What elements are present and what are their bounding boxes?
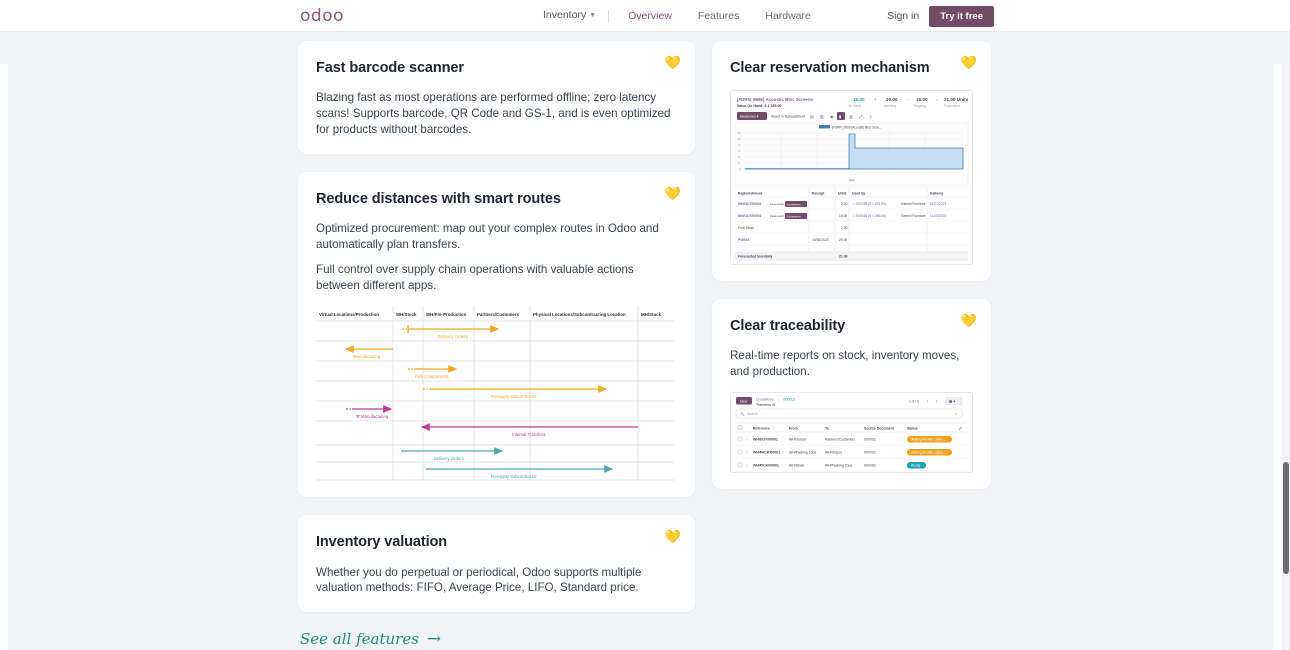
see-all-features-label: See all features [300, 630, 419, 648]
scrollbar-thumb[interactable] [1283, 462, 1289, 574]
svg-text:WH/Packing Zone: WH/Packing Zone [825, 464, 852, 468]
svg-text:WH/PICK/00001: WH/PICK/00001 [753, 464, 779, 468]
svg-text:Incoming: Incoming [883, 104, 896, 108]
reservation-screenshot: [FURN_6666] Acoustic Bloc Screens Value … [730, 90, 973, 265]
svg-text:10/30/2023: 10/30/2023 [812, 238, 829, 242]
svg-text:⤢: ⤢ [959, 427, 962, 431]
svg-text:Unreserve: Unreserve [787, 203, 801, 207]
svg-text:Resupply Subcontractor: Resupply Subcontractor [491, 394, 537, 399]
page-content: 💛 Fast barcode scanner Blazing fast as m… [0, 32, 1290, 650]
trc-th-1: From [789, 427, 798, 431]
shot-subtitle: Value On Hand: $ 1 145.00 [737, 104, 782, 108]
svg-text:On Hand: On Hand [848, 104, 861, 108]
res-th-0: Replenishment [738, 192, 763, 196]
svg-text:WH/Stock: WH/Stock [789, 464, 804, 468]
routes-diagram: Virtual Locations/Production WH/Stock WH… [316, 306, 674, 446]
svg-text:Manufacturing: Manufacturing [353, 354, 381, 359]
trc-th-4: Status [907, 427, 918, 431]
svg-text:▨: ▨ [820, 114, 824, 119]
try-it-free-button[interactable]: Try it free [929, 6, 994, 27]
nav-item-inventory[interactable]: Inventory▼ [530, 0, 602, 33]
chevron-down-icon: ▼ [589, 12, 596, 19]
card-clear-reservation: 💛 Clear reservation mechanism [FURN_6666… [712, 41, 991, 281]
right-gutter [1274, 64, 1282, 650]
svg-text:1.00: 1.00 [841, 226, 848, 230]
svg-text:▦ ▾: ▦ ▾ [949, 400, 955, 404]
svg-text:Forecasted: Forecasted [944, 104, 960, 108]
svg-text:WH/OUT/00002: WH/OUT/00002 [738, 214, 762, 218]
heart-icon[interactable]: 💛 [663, 527, 683, 547]
nav-item-inventory-label: Inventory [543, 9, 586, 21]
right-column: 💛 Clear reservation mechanism [FURN_6666… [712, 41, 991, 507]
svg-text:🔍: 🔍 [740, 411, 745, 416]
trc-th-2: To [825, 427, 829, 431]
card-body: Blazing fast as most operations are perf… [316, 90, 677, 138]
svg-text:☆ S00026 ($ 4,350.00): ☆ S00026 ($ 4,350.00) [852, 214, 886, 218]
svg-text:Outgoing: Outgoing [913, 104, 926, 108]
svg-text:20.00: 20.00 [886, 97, 898, 102]
svg-text:Pick Components: Pick Components [415, 374, 449, 379]
svg-text:Gemini Furniture: Gemini Furniture [901, 214, 926, 218]
svg-text:▥: ▥ [849, 114, 853, 119]
res-th-1: Receipt [812, 192, 825, 196]
svg-text:▾: ▾ [955, 412, 957, 416]
svg-text:WH/OUT/00001: WH/OUT/00001 [753, 438, 778, 442]
svg-text:Partners/Customers: Partners/Customers [825, 438, 855, 442]
search-placeholder: Search... [747, 412, 761, 416]
sign-in-link[interactable]: Sign in [887, 10, 919, 22]
heart-icon[interactable]: 💛 [959, 53, 979, 73]
svg-text:S00002: S00002 [864, 451, 876, 455]
traceability-screenshot: New Quotations / S00002 Transfers ⚙ 1-3 … [730, 392, 973, 473]
card-title: Clear reservation mechanism [730, 59, 973, 77]
svg-text:20.00: 20.00 [839, 238, 847, 242]
card-clear-traceability: 💛 Clear traceability Real-time reports o… [712, 299, 991, 489]
nav-divider [608, 10, 609, 23]
card-title: Fast barcode scanner [316, 59, 677, 77]
routes-diagram-svg-lower: Delivery Orders Resupply Subcontractor [316, 445, 674, 481]
odoo-logo[interactable]: odoo [300, 8, 344, 25]
scrollbar-track[interactable] [1282, 64, 1290, 650]
res-th-3: Used by [852, 192, 865, 196]
card-body-2: Full control over supply chain operation… [316, 262, 677, 294]
chart-legend: [FURN_0000] Acoustic Bloc Scre... [832, 126, 882, 130]
card-inventory-valuation: 💛 Inventory valuation Whether you do per… [298, 515, 695, 612]
svg-text:Waiting Another Opera...: Waiting Another Opera... [911, 451, 946, 455]
svg-text:⚒ Manufacturing: ⚒ Manufacturing [356, 414, 389, 419]
star-icon: ☆ [745, 451, 749, 455]
svg-text:☆ S00025 ($ 1,875.00): ☆ S00025 ($ 1,875.00) [852, 202, 886, 206]
svg-text:New: New [740, 399, 748, 403]
breadcrumb-id: S00002 [783, 398, 795, 402]
svg-text:15.00: 15.00 [916, 97, 928, 102]
svg-text:WH/Output: WH/Output [789, 438, 806, 442]
routes-col-3: Partners/Customers [477, 312, 520, 317]
heart-icon[interactable]: 💛 [959, 311, 979, 331]
svg-text:Resupply Subcontractor: Resupply Subcontractor [491, 474, 537, 479]
card-smart-routes: 💛 Reduce distances with smart routes Opt… [298, 172, 695, 498]
card-title: Clear traceability [730, 317, 973, 335]
routes-col-2: WH/Pre-Production [426, 312, 467, 317]
res-th-4: Delivery [930, 192, 943, 196]
svg-text:10.00: 10.00 [839, 214, 847, 218]
select-all-checkbox [738, 426, 742, 430]
top-navbar: odoo Inventory▼ Overview Features Hardwa… [0, 0, 1290, 32]
traceability-screenshot-svg: New Quotations / S00002 Transfers ⚙ 1-3 … [731, 393, 972, 472]
trc-th-3: Source Document [864, 427, 895, 431]
svg-text:▮: ▮ [839, 114, 841, 119]
svg-text:▤: ▤ [810, 114, 814, 119]
page-root: odoo Inventory▼ Overview Features Hardwa… [0, 0, 1290, 650]
routes-diagram-svg: Virtual Locations/Production WH/Stock WH… [316, 306, 674, 446]
svg-text:WH/Output: WH/Output [825, 451, 842, 455]
shot-product: [FURN_6666] Acoustic Bloc Screens [737, 97, 814, 102]
svg-text:Ready: Ready [911, 464, 921, 468]
svg-text:P00015: P00015 [738, 238, 750, 242]
card-body-1: Optimized procurement: map out your comp… [316, 221, 677, 253]
svg-text:Gemini Furniture: Gemini Furniture [901, 202, 926, 206]
star-icon: ☆ [745, 438, 749, 442]
svg-text:21.00: 21.00 [839, 255, 848, 259]
svg-text:S00002: S00002 [864, 464, 876, 468]
nav-item-overview[interactable]: Overview [615, 0, 685, 32]
row-checkbox [738, 463, 742, 467]
routes-col-4: Physical Locations/Subcontracting Locati… [533, 312, 626, 317]
card-title: Inventory valuation [316, 533, 677, 551]
svg-text:Delivery Orders: Delivery Orders [438, 334, 468, 339]
svg-text:21.00 Units: 21.00 Units [944, 97, 969, 102]
svg-text:⇳: ⇳ [869, 114, 872, 119]
card-fast-barcode-scanner: 💛 Fast barcode scanner Blazing fast as m… [298, 41, 695, 154]
svg-text:WH/Packing Zone: WH/Packing Zone [789, 451, 816, 455]
svg-text:11/03/2023: 11/03/2023 [930, 214, 946, 218]
primary-nav: Inventory▼ Overview Features Hardware [530, 0, 824, 32]
nav-item-hardware[interactable]: Hardware [752, 0, 824, 32]
svg-text:Internal Transfers: Internal Transfers [512, 432, 545, 437]
pager: 1-3 / 3 [909, 399, 919, 403]
svg-text:S00002: S00002 [864, 438, 876, 442]
svg-text:(reserved): (reserved) [770, 214, 784, 218]
routes-col-0: Virtual Locations/Production [319, 312, 379, 317]
res-th-2: Units [838, 192, 847, 196]
heart-icon[interactable]: 💛 [663, 184, 683, 204]
card-body: Whether you do perpetual or periodical, … [316, 565, 677, 597]
reservation-screenshot-svg: [FURN_6666] Acoustic Bloc Screens Value … [731, 91, 972, 264]
svg-text:Waiting Another Opera...: Waiting Another Opera... [911, 438, 946, 442]
svg-text:WH/OUT/00001: WH/OUT/00001 [738, 202, 762, 206]
svg-text:Unreserve: Unreserve [787, 215, 801, 219]
svg-text:Free Stock: Free Stock [738, 226, 754, 230]
row-checkbox [738, 437, 742, 441]
routes-col-1: WH/Stock [396, 312, 417, 317]
see-all-features-link[interactable]: See all features → [300, 630, 441, 648]
svg-text:(reserved): (reserved) [770, 202, 784, 206]
breadcrumb-root: Quotations [756, 398, 774, 402]
svg-text:Measures ▾: Measures ▾ [740, 115, 759, 119]
card-title: Reduce distances with smart routes [316, 190, 677, 208]
svg-text:Delivery Orders: Delivery Orders [434, 456, 464, 461]
heart-icon[interactable]: 💛 [663, 53, 683, 73]
row-checkbox [738, 450, 742, 454]
svg-text:16.00: 16.00 [853, 97, 865, 102]
trc-th-0: Reference [753, 427, 770, 431]
svg-text:5.00: 5.00 [841, 202, 848, 206]
svg-text:◉: ◉ [830, 114, 834, 119]
svg-text:/: / [778, 398, 779, 402]
arrow-right-icon: → [427, 631, 441, 648]
svg-text:11/01/2023: 11/01/2023 [930, 202, 946, 206]
left-column: 💛 Fast barcode scanner Blazing fast as m… [298, 41, 695, 630]
svg-text:Forecasted Inventory: Forecasted Inventory [738, 255, 772, 259]
nav-actions: Sign in Try it free [887, 0, 994, 32]
routes-col-5: MH/Stock [641, 312, 662, 317]
card-body: Real-time reports on stock, inventory mo… [730, 348, 973, 380]
star-icon: ☆ [745, 464, 749, 468]
breadcrumb-sub: Transfers ⚙ [756, 403, 776, 407]
left-gutter [0, 64, 8, 650]
insert-spreadsheet-button: Insert in Spreadsheet [771, 115, 805, 119]
nav-item-features[interactable]: Features [685, 0, 752, 32]
svg-text:Date: Date [849, 178, 855, 182]
search-input [736, 409, 962, 418]
svg-text:WH/PACK/00001: WH/PACK/00001 [753, 451, 780, 455]
